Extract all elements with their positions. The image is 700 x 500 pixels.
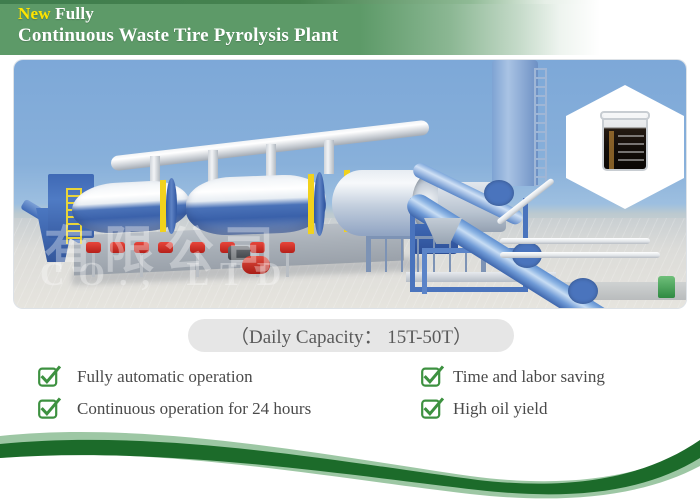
header-title-line-1: New Fully — [18, 4, 94, 24]
burner-stem — [286, 253, 289, 277]
pipe-support-leg — [266, 144, 276, 178]
feature-label: Fully automatic operation — [77, 367, 253, 387]
burner — [134, 242, 149, 253]
green-tank — [658, 276, 675, 298]
reactor-ring — [166, 178, 177, 235]
feature-item-time-and-labor-saving: Time and labor saving — [421, 366, 605, 388]
promo-banner: New Fully Continuous Waste Tire Pyrolysi… — [0, 0, 700, 500]
burner — [86, 242, 101, 253]
burner-stem — [140, 253, 143, 277]
feature-item-fully-automatic-operation: Fully automatic operation — [38, 366, 253, 388]
conveyor-flange — [484, 180, 514, 206]
beaker-icon — [602, 109, 648, 171]
decorative-swoosh — [0, 400, 700, 500]
conveyor-flange — [568, 278, 598, 304]
check-icon — [38, 366, 60, 388]
swoosh-dark-band — [0, 440, 700, 494]
check-icon — [421, 366, 443, 388]
pyrolysis-reactor-section — [186, 173, 326, 236]
beaker-glass — [602, 115, 648, 171]
pipe-support-leg — [324, 140, 334, 174]
daily-capacity-badge: （Daily Capacity： 15T-50T） — [188, 319, 514, 352]
burner — [250, 242, 265, 253]
product-photo: 有限公司 CO., LTD — [14, 60, 686, 308]
burner — [190, 242, 205, 253]
pyrolysis-oil-badge — [566, 85, 684, 209]
process-pipe — [500, 238, 650, 244]
burner — [280, 242, 295, 253]
column-ladder — [534, 68, 547, 186]
process-pipe — [500, 252, 660, 258]
header-top-strip — [0, 0, 700, 4]
feature-label: Time and labor saving — [453, 367, 605, 387]
reactor-ring — [314, 172, 325, 236]
distillation-column — [492, 60, 538, 186]
header-bar: New Fully Continuous Waste Tire Pyrolysi… — [0, 0, 700, 55]
daily-capacity-text: （Daily Capacity： 15T-50T） — [230, 322, 472, 349]
burner — [158, 242, 173, 253]
header-title-line-2: Continuous Waste Tire Pyrolysis Plant — [18, 25, 338, 47]
beaker-rim — [600, 111, 650, 120]
burner-stem — [92, 253, 95, 277]
burner-stem — [196, 253, 199, 277]
burner — [110, 242, 125, 253]
header-title-rest: Fully — [55, 4, 94, 23]
red-air-tank — [242, 256, 270, 274]
header-new-badge: New — [18, 4, 51, 23]
